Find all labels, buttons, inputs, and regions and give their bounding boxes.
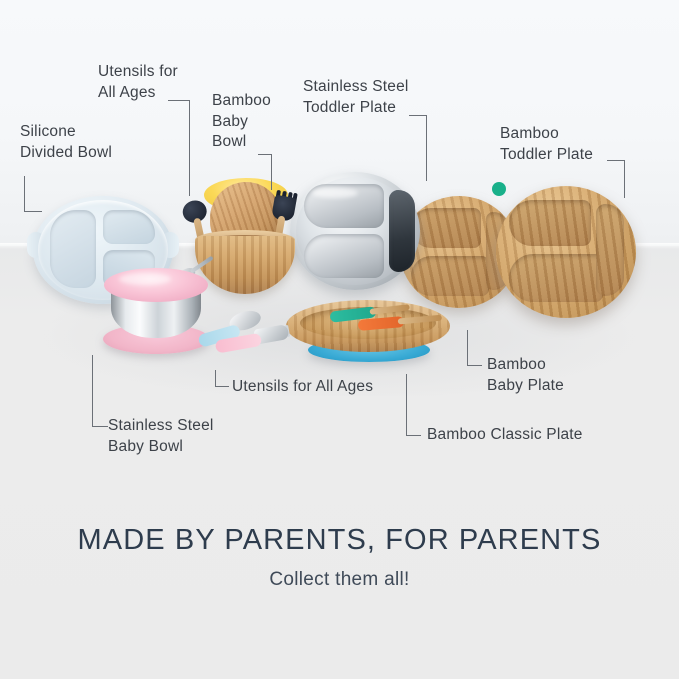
bamboo-grain-texture [496, 186, 636, 318]
leader-stainless-toddler-plate-vertical [426, 115, 427, 181]
label-bamboo-baby-plate: Bamboo Baby Plate [487, 355, 564, 396]
label-utensils-for-all-ages-bottom: Utensils for All Ages [232, 377, 373, 398]
label-stainless-steel-baby-bowl: Stainless Steel Baby Bowl [108, 416, 214, 457]
leader-stainless-baby-bowl-vertical [92, 355, 93, 427]
product-stainless-steel-toddler-plate [290, 172, 420, 294]
leader-bamboo-baby-plate-vertical [467, 330, 468, 366]
product-bamboo-classic-plate [286, 300, 450, 364]
leader-bamboo-toddler-plate-horizontal [607, 160, 625, 161]
page-subheadline: Collect them all! [0, 569, 679, 591]
steel-spoon-handle [190, 256, 214, 274]
leader-stainless-toddler-plate-horizontal [409, 115, 427, 116]
leader-bamboo-baby-bowl-horizontal [258, 154, 272, 155]
leader-silicone-divided-bowl-vertical [24, 176, 25, 212]
teal-suction-tab [492, 182, 506, 196]
product-bamboo-toddler-plate-front [496, 186, 636, 322]
steel-plate-compartment-bottom [304, 234, 384, 278]
page-headline: MADE BY PARENTS, FOR PARENTS [0, 524, 679, 557]
leader-stainless-baby-bowl-horizontal [92, 426, 108, 427]
label-bamboo-classic-plate: Bamboo Classic Plate [427, 425, 583, 446]
leader-utensils-bottom-horizontal [215, 386, 229, 387]
label-silicone-divided-bowl: Silicone Divided Bowl [20, 122, 112, 163]
lid-highlight [119, 273, 171, 285]
pink-handle [215, 333, 263, 354]
label-bamboo-toddler-plate: Bamboo Toddler Plate [500, 124, 593, 165]
leader-utensils-bottom-vertical [215, 370, 216, 387]
infographic-canvas: Silicone Divided Bowl Utensils for All A… [0, 0, 679, 679]
leader-bamboo-toddler-plate-vertical [624, 160, 625, 198]
label-utensils-for-all-ages-top: Utensils for All Ages [98, 62, 178, 103]
label-stainless-steel-toddler-plate: Stainless Steel Toddler Plate [303, 77, 409, 118]
steel-plate-highlight [312, 188, 358, 198]
leader-bamboo-baby-bowl-vertical [271, 154, 272, 190]
leader-utensils-top-vertical [189, 100, 190, 196]
silicone-bowl-compartment-large [50, 210, 96, 288]
label-bamboo-baby-bowl: Bamboo Baby Bowl [212, 91, 271, 153]
leader-bamboo-baby-plate-horizontal [467, 365, 482, 366]
leader-bamboo-classic-plate-vertical [406, 374, 407, 436]
leader-bamboo-classic-plate-horizontal [406, 435, 421, 436]
product-utensils-for-all-ages [198, 306, 304, 364]
leader-silicone-divided-bowl-horizontal [24, 211, 42, 212]
steel-plate-compartment-side [389, 190, 415, 272]
